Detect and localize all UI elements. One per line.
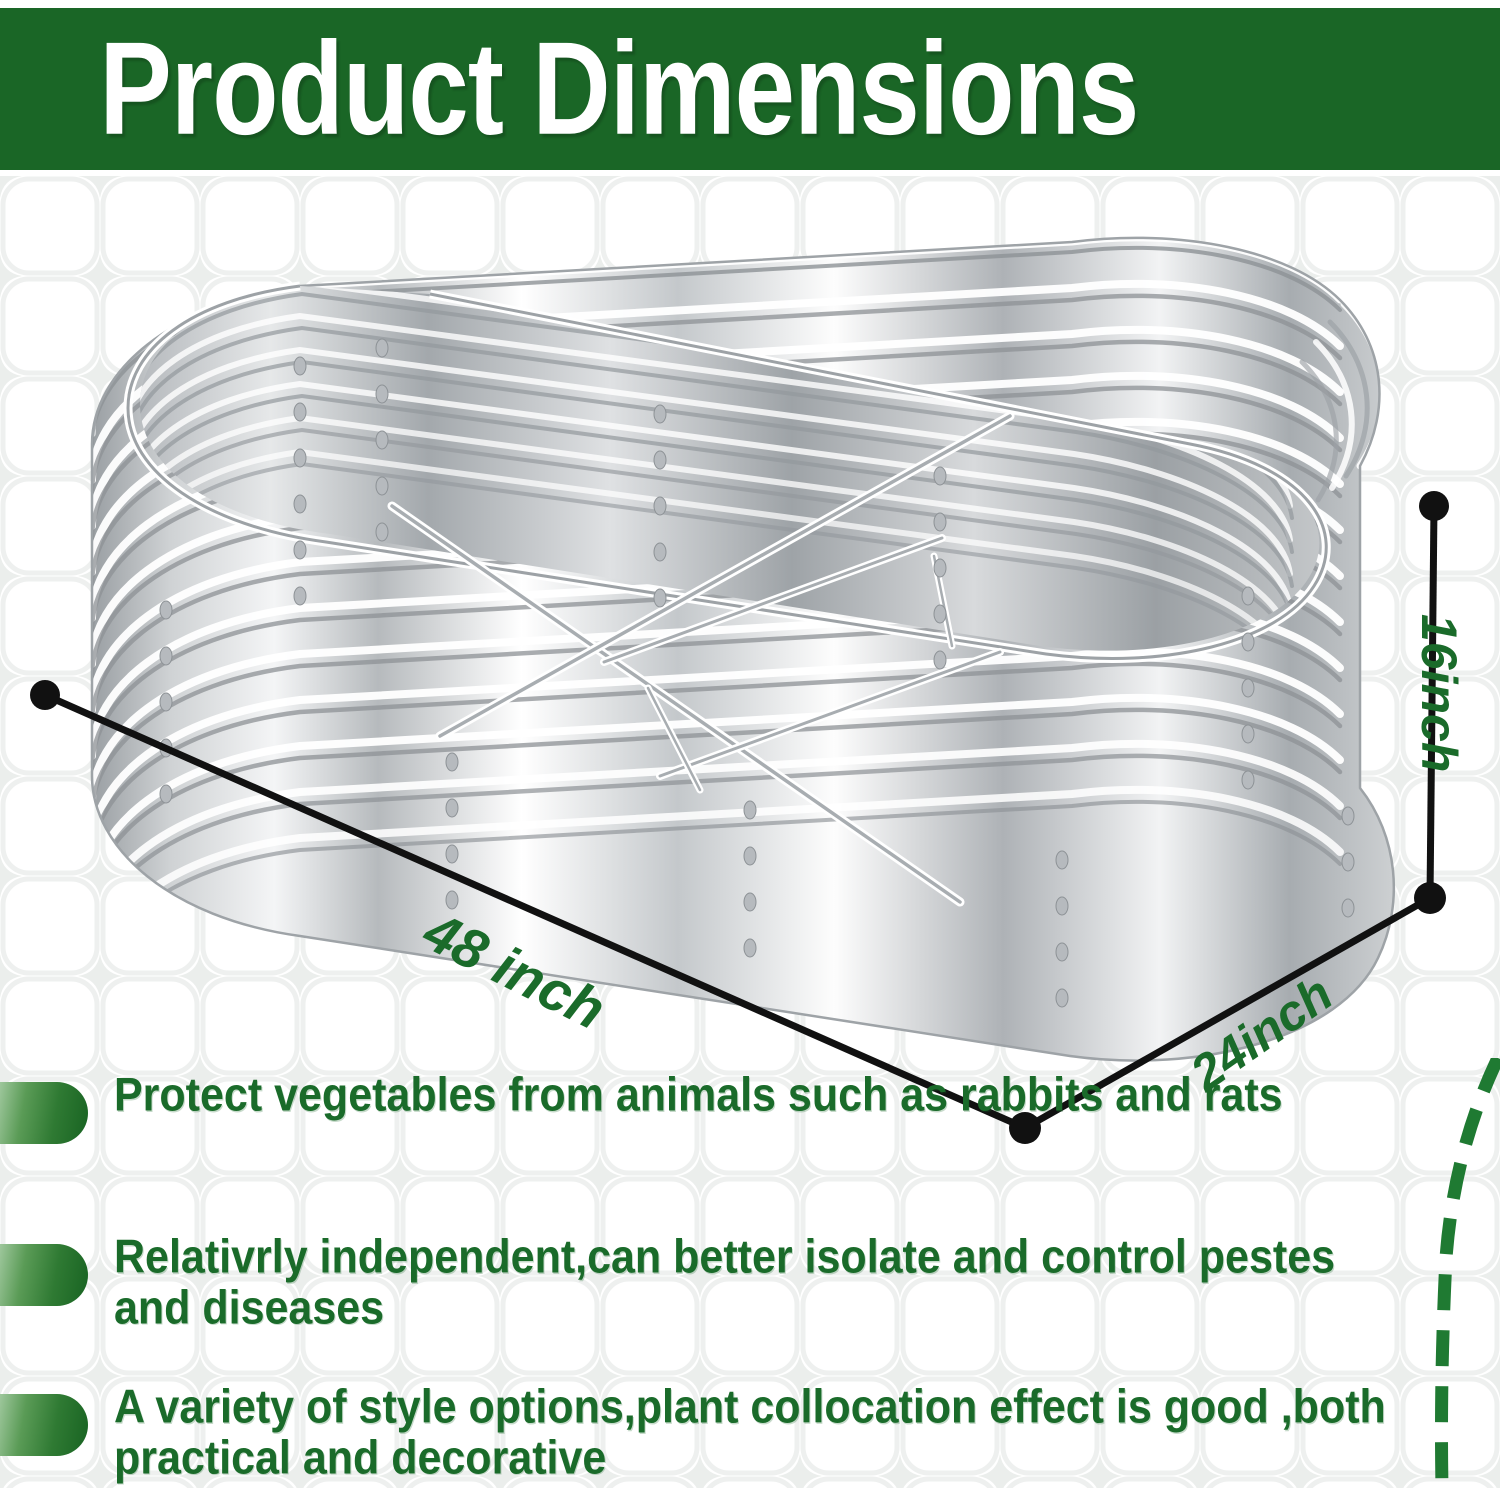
feature-text: Protect vegetables from animals such as … [114, 1070, 1283, 1121]
bullet-marker-icon [0, 1394, 88, 1456]
feature-item: Protect vegetables from animals such as … [0, 1070, 1283, 1144]
dimension-label-height: 16inch [1410, 614, 1468, 772]
header-banner: Product Dimensions [0, 8, 1500, 170]
bullet-marker-icon [0, 1082, 88, 1144]
page-title: Product Dimensions [0, 23, 1138, 155]
feature-text: Relativrly independent,can better isolat… [114, 1232, 1414, 1333]
feature-item: A variety of style options,plant colloca… [0, 1382, 1414, 1474]
feature-item: Relativrly independent,can better isolat… [0, 1232, 1414, 1324]
bullet-marker-icon [0, 1244, 88, 1306]
feature-text: A variety of style options,plant colloca… [114, 1382, 1414, 1483]
